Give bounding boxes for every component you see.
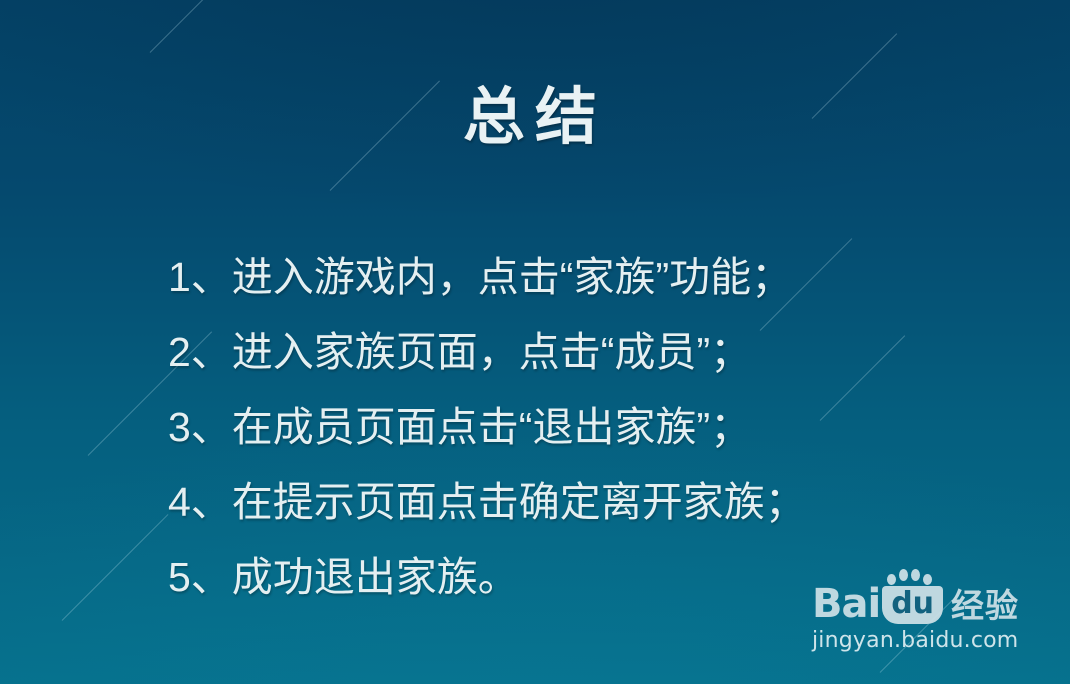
paw-print-icon	[899, 569, 908, 581]
list-item: 2、进入家族页面，点击“成员”；	[168, 315, 968, 390]
baidu-logo-du-text: du	[891, 586, 934, 621]
list-item: 3、在成员页面点击“退出家族”；	[168, 390, 968, 465]
jingyan-label: 经验	[951, 588, 1019, 624]
decorative-diagonal-line	[62, 514, 169, 621]
decorative-diagonal-line	[150, 0, 214, 53]
paw-print-icon	[887, 574, 896, 585]
slide-canvas: 总结 1、进入游戏内，点击“家族”功能； 2、进入家族页面，点击“成员”； 3、…	[0, 0, 1070, 684]
baidu-logo-du-badge: du	[882, 586, 943, 624]
baidu-logo: Bai du 经验	[812, 580, 1028, 624]
baidu-jingyan-watermark: Bai du 经验 jingyan.baidu.com	[812, 580, 1028, 653]
step-list: 1、进入游戏内，点击“家族”功能； 2、进入家族页面，点击“成员”； 3、在成员…	[168, 240, 968, 615]
list-item: 4、在提示页面点击确定离开家族；	[168, 465, 968, 540]
list-item: 1、进入游戏内，点击“家族”功能；	[168, 240, 968, 315]
baidu-logo-bai-text: Bai	[812, 584, 880, 624]
page-title: 总结	[0, 66, 1070, 156]
paw-print-icon	[911, 569, 920, 581]
watermark-url: jingyan.baidu.com	[812, 628, 1028, 653]
paw-print-icon	[923, 574, 932, 585]
